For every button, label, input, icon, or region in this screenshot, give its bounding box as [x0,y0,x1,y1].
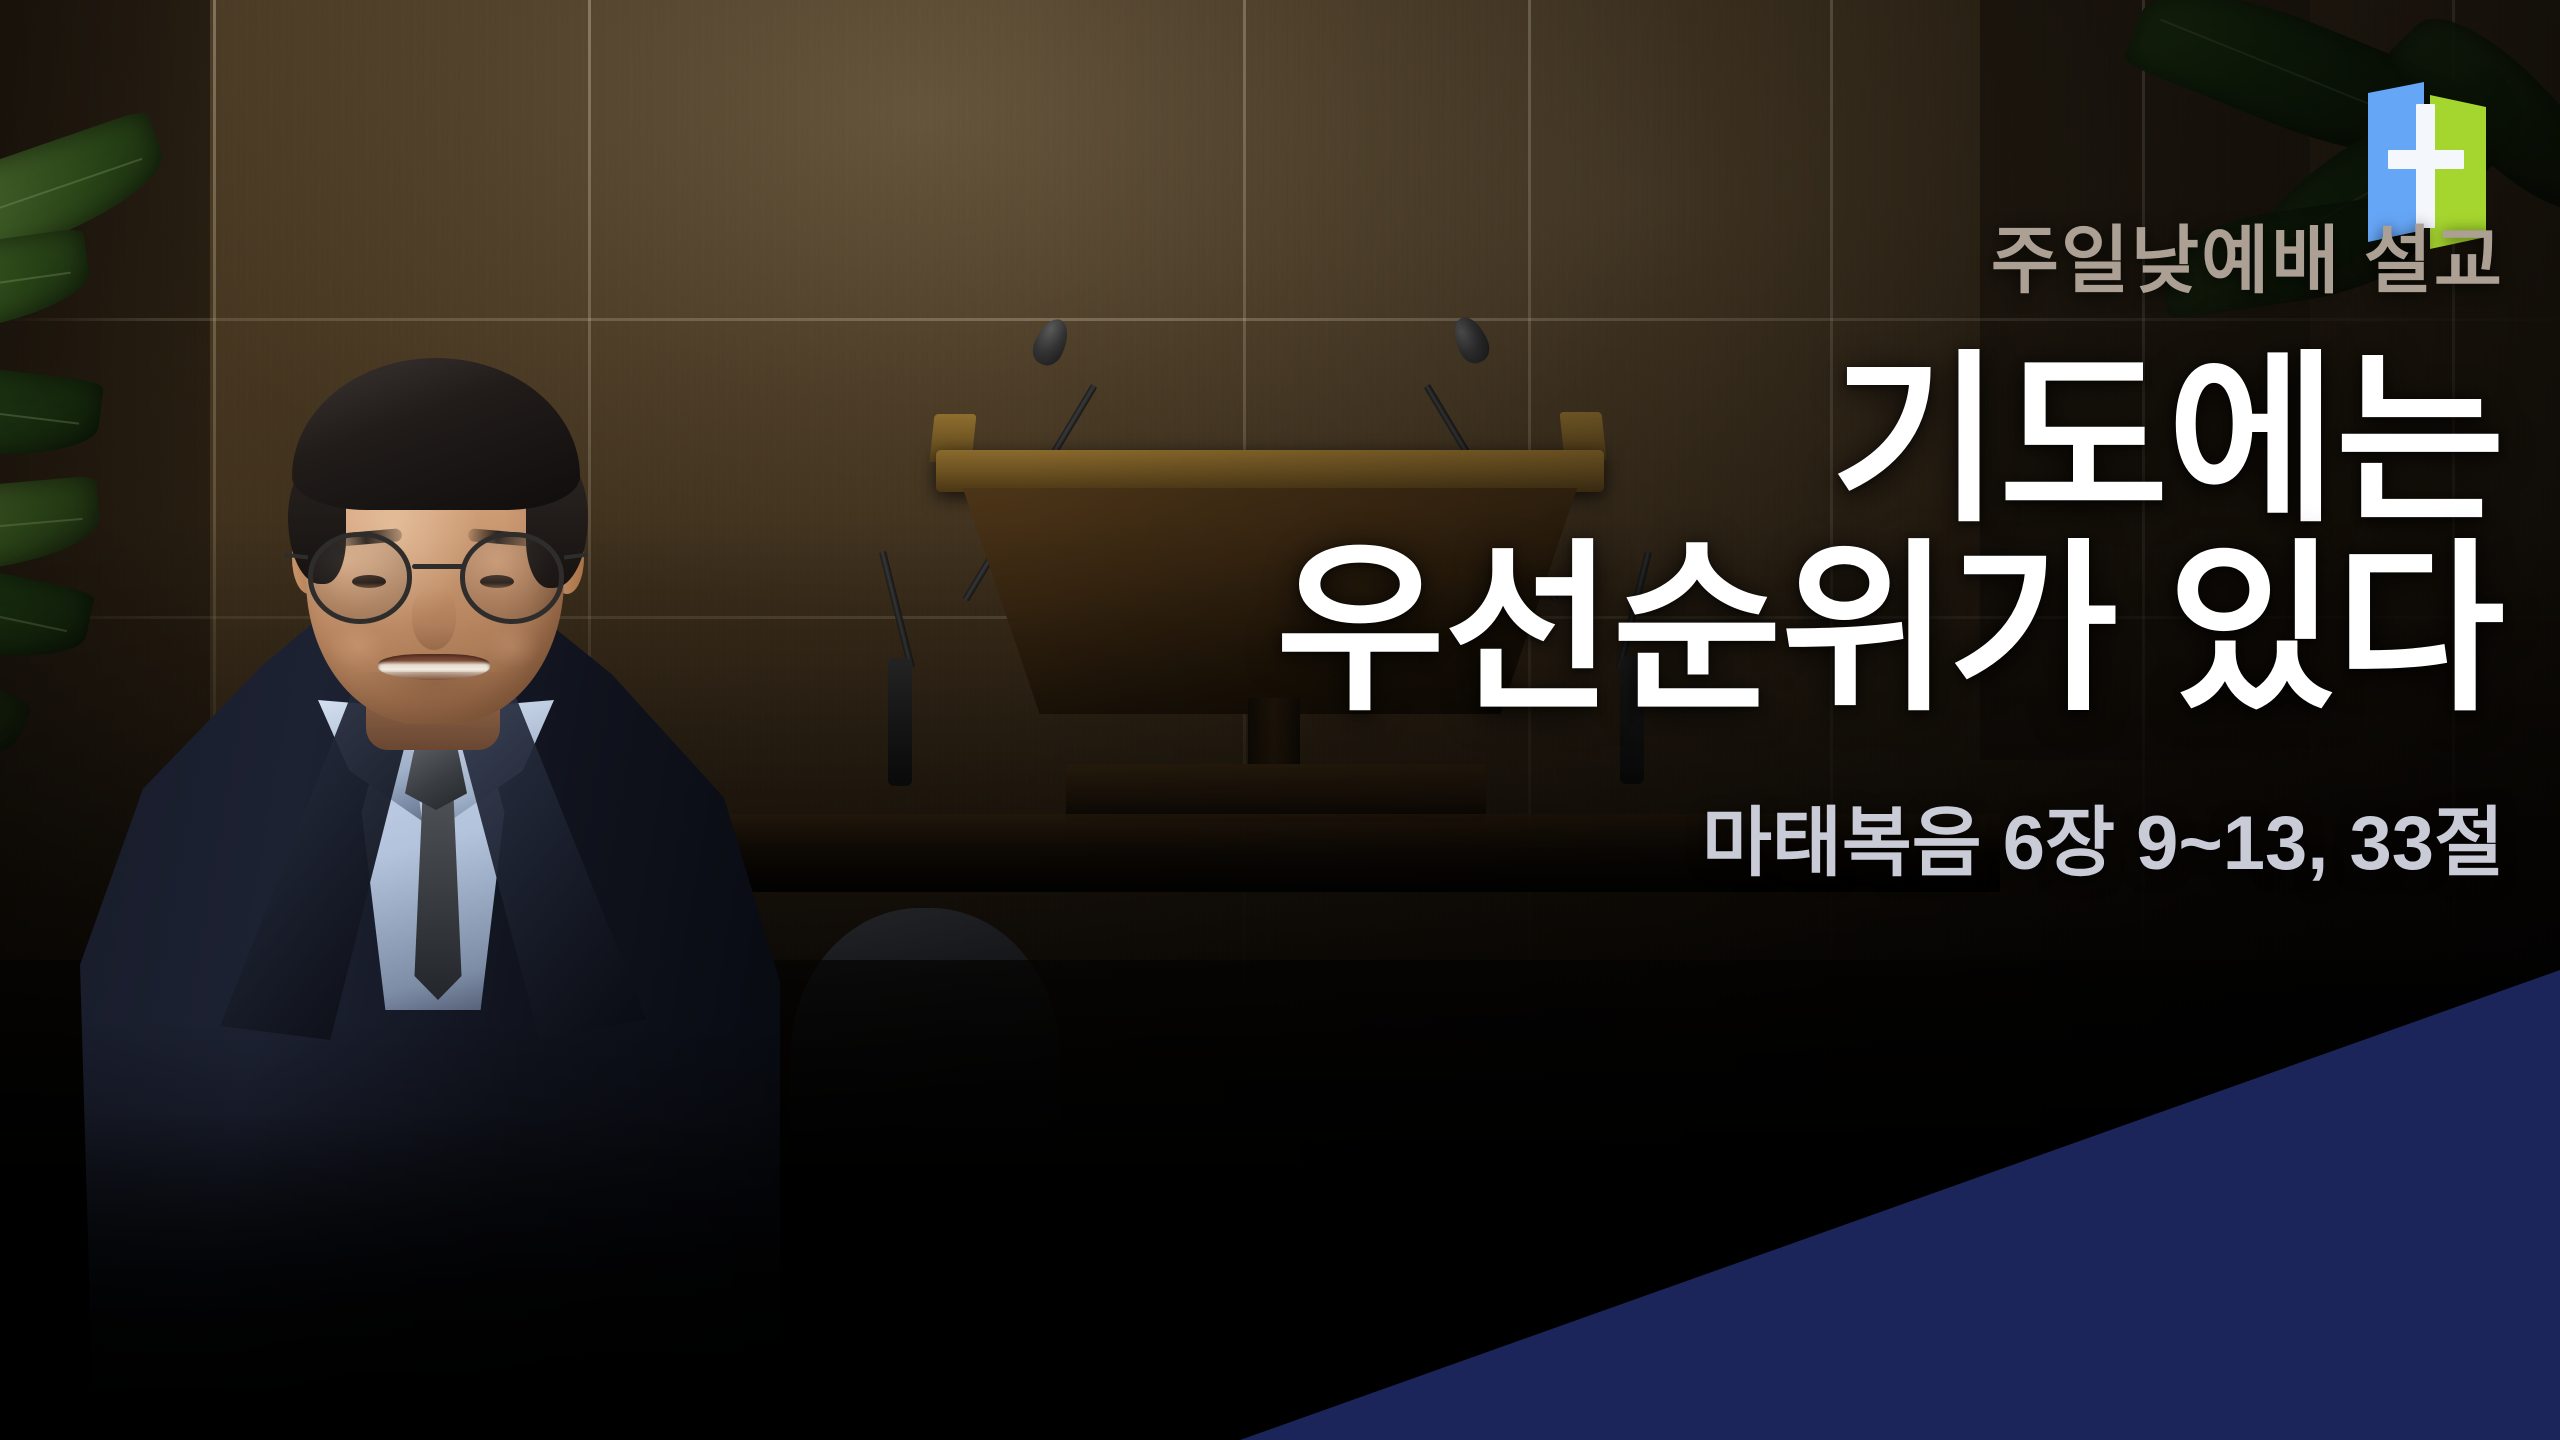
eyeglasses-icon [302,528,570,628]
eyeglass-lens-right [460,532,564,624]
portrait-bottom-fade [40,1110,820,1440]
hair [292,358,580,510]
scripture-reference: 마태복음 6장 9~13, 33절 [1004,781,2504,891]
sermon-text-block: 주일낮예배 설교 기도에는 우선순위가 있다 마태복음 6장 9~13, 33절 [1004,222,2504,891]
sermon-title: 기도에는 우선순위가 있다 [1004,346,2504,725]
chin-shadow [356,672,514,724]
service-kicker-label: 주일낮예배 설교 [1004,222,2504,300]
sermon-thumbnail-canvas: 주일낮예배 설교 기도에는 우선순위가 있다 마태복음 6장 9~13, 33절 [0,0,2560,1440]
cheek-left [330,626,384,668]
eyeglass-lens-left [308,532,412,624]
eyeglass-bridge [412,564,464,569]
pastor-portrait [80,80,780,1440]
sermon-title-line-2: 우선순위가 있다 [1004,535,2504,725]
sermon-title-line-1: 기도에는 [1831,337,2504,543]
cheek-right [486,626,540,668]
